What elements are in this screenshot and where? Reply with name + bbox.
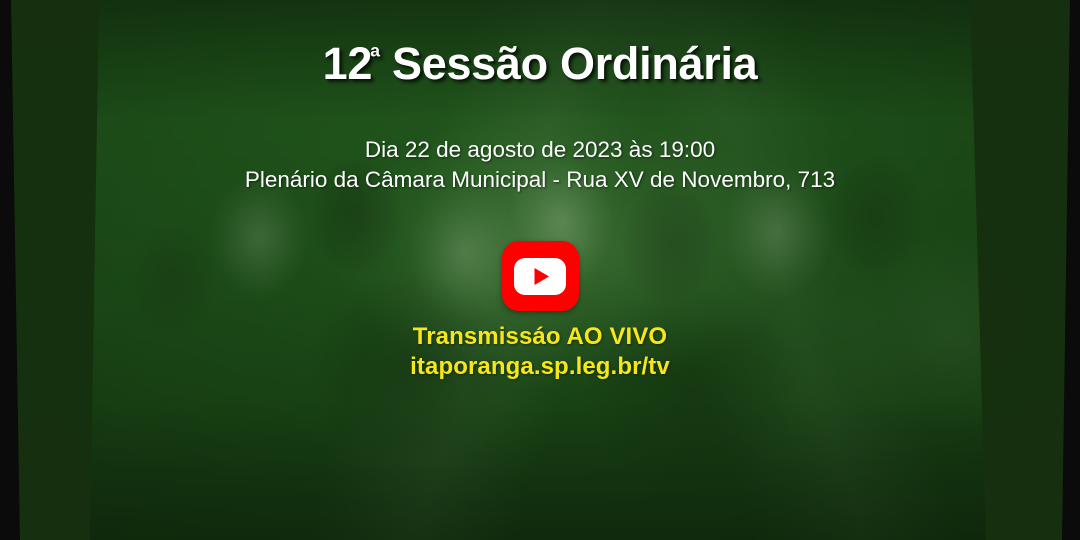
title-number: 12: [323, 38, 372, 89]
session-datetime: Dia 22 de agosto de 2023 às 19:00: [245, 135, 835, 165]
banner-content: 12ª Sessão Ordinária Dia 22 de agosto de…: [0, 0, 1080, 540]
session-details: Dia 22 de agosto de 2023 às 19:00 Plenár…: [245, 135, 835, 195]
title-ordinal-suffix: ª: [370, 42, 380, 72]
live-broadcast-info: Transmissáo AO VIVO itaporanga.sp.leg.br…: [410, 322, 670, 382]
live-label: Transmissáo AO VIVO: [410, 322, 670, 352]
session-location: Plenário da Câmara Municipal - Rua XV de…: [245, 165, 835, 195]
title-rest: Sessão Ordinária: [380, 38, 758, 89]
live-url[interactable]: itaporanga.sp.leg.br/tv: [410, 352, 670, 382]
youtube-icon[interactable]: [502, 241, 579, 311]
page-title: 12ª Sessão Ordinária: [323, 38, 758, 90]
session-announcement-banner: 12ª Sessão Ordinária Dia 22 de agosto de…: [0, 0, 1080, 540]
